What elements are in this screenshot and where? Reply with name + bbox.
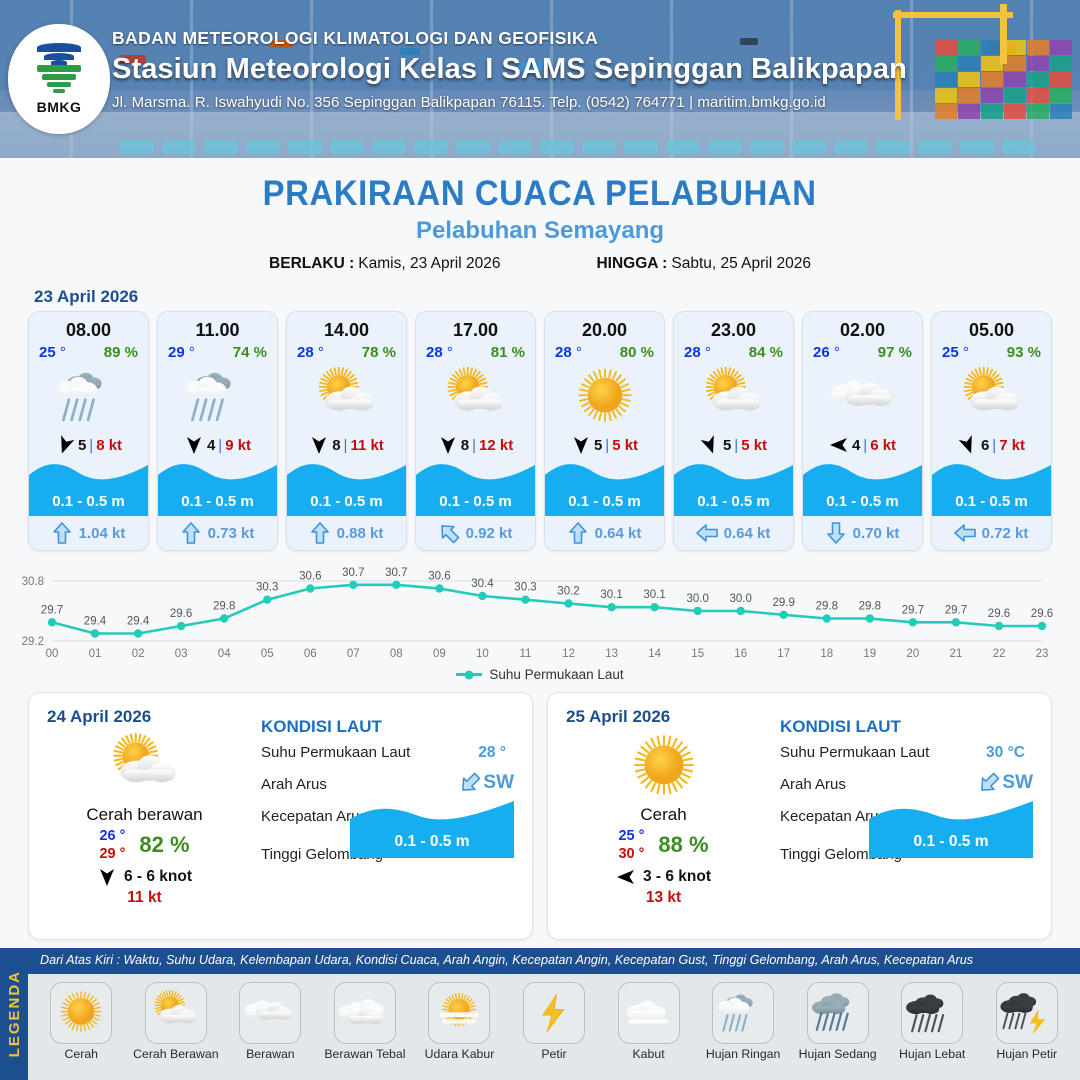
logo-text: BMKG	[37, 99, 82, 115]
legend-item-label: Berawan Tebal	[318, 1047, 413, 1061]
svg-text:29.9: 29.9	[773, 597, 795, 609]
wind-direction-arrow-icon	[700, 435, 720, 455]
header-waiting-chair	[918, 140, 952, 154]
card-wave-block: 0.1 - 0.5 m 0.88 kt	[287, 461, 406, 550]
arrow-southwest-icon	[979, 772, 999, 794]
daily-panel: 24 April 2026 Cerah berawan 26 ° 29 ° 82…	[28, 692, 533, 940]
card-time: 05.00	[932, 320, 1051, 341]
card-temperature: 28 °	[297, 344, 324, 361]
card-wind-separator: |	[863, 437, 867, 454]
chart-legend-label: Suhu Permukaan Laut	[489, 667, 623, 682]
card-wind-row: 8 | 11 kt	[287, 435, 406, 455]
legend-body: Dari Atas Kiri : Waktu, Suhu Udara, Kele…	[28, 948, 1080, 1080]
wind-direction-arrow-icon	[958, 435, 978, 455]
card-wave-height: 0.1 - 0.5 m	[803, 486, 922, 516]
card-time: 23.00	[674, 320, 793, 341]
svg-text:03: 03	[175, 648, 188, 660]
card-current-speed: 0.70 kt	[853, 525, 900, 542]
sunny-icon	[545, 363, 664, 431]
legend-note: Dari Atas Kiri : Waktu, Suhu Udara, Kele…	[28, 948, 1080, 974]
daily-temp-max: 30 °	[618, 846, 644, 862]
card-wind-speed: 9 kt	[225, 437, 251, 454]
legend-item: Hujan Petir	[979, 982, 1074, 1061]
station-name: Stasiun Meteorologi Kelas I SAMS Sepingg…	[112, 53, 1052, 86]
berlaku-label: BERLAKU :	[269, 255, 354, 272]
berlaku-group: BERLAKU :Kamis, 23 April 2026	[269, 255, 500, 273]
card-wave-height: 0.1 - 0.5 m	[29, 486, 148, 516]
svg-text:08: 08	[390, 648, 403, 660]
sea-temperature-chart: 30.8 29.2 29.729.429.429.629.830.330.630…	[0, 563, 1080, 663]
sst-value: 28 °	[478, 744, 506, 762]
wind-direction-arrow-icon	[309, 435, 329, 455]
daily-sea-conditions: KONDISI LAUT Suhu Permukaan Laut 30 °C A…	[780, 717, 1039, 866]
card-wind-row: 5 | 8 kt	[29, 435, 148, 455]
card-temp-hum-row: 28 ° 84 %	[674, 341, 793, 361]
daily-wind-range: 6 - 6 knot	[124, 868, 192, 886]
svg-text:30.0: 30.0	[730, 593, 752, 605]
card-temperature: 28 °	[555, 344, 582, 361]
card-humidity: 81 %	[491, 344, 525, 361]
arrow-up-icon	[568, 522, 588, 544]
card-temperature: 26 °	[813, 344, 840, 361]
daily-temp-min: 25 °	[618, 828, 644, 844]
card-humidity: 93 %	[1007, 344, 1041, 361]
svg-text:29.8: 29.8	[816, 601, 838, 613]
partly-cloudy-icon	[37, 731, 252, 803]
legend-item-label: Cerah Berawan	[129, 1047, 224, 1061]
daily-summary: Cerah berawan 26 ° 29 ° 82 % 6 - 6 knot …	[37, 731, 252, 907]
arrow-upleft-icon	[439, 522, 459, 544]
card-wind-separator: |	[605, 437, 609, 454]
card-current-row: 0.64 kt	[674, 516, 793, 550]
card-wind-direction: 4	[852, 437, 860, 454]
daily-humidity: 82 %	[139, 832, 189, 858]
card-wave-height: 0.1 - 0.5 m	[416, 486, 535, 516]
svg-text:29.8: 29.8	[859, 601, 881, 613]
sst-label: Suhu Permukaan Laut	[261, 744, 410, 761]
card-wind-speed: 12 kt	[479, 437, 513, 454]
card-wave-block: 0.1 - 0.5 m 0.73 kt	[158, 461, 277, 550]
overcast-icon	[334, 982, 396, 1044]
arrow-up-icon	[52, 522, 72, 544]
legend-item: Cerah	[34, 982, 129, 1061]
hourly-date-label: 23 April 2026	[34, 287, 1080, 307]
svg-text:16: 16	[734, 648, 747, 660]
daily-temp-group: 26 ° 29 ° 82 %	[37, 828, 252, 862]
card-wind-row: 6 | 7 kt	[932, 435, 1051, 455]
wind-direction-arrow-icon	[829, 435, 849, 455]
card-wind-row: 4 | 6 kt	[803, 435, 922, 455]
header-waiting-chair	[708, 140, 742, 154]
wind-direction-arrow-icon	[571, 435, 591, 455]
card-wind-row: 8 | 12 kt	[416, 435, 535, 455]
daily-gust: 11 kt	[37, 889, 252, 907]
legend-item: Berawan Tebal	[318, 982, 413, 1061]
card-temp-hum-row: 28 ° 80 %	[545, 341, 664, 361]
svg-text:21: 21	[950, 648, 963, 660]
card-current-speed: 0.64 kt	[724, 525, 771, 542]
hourly-card: 14.00 28 ° 78 % 8 | 11 kt 0.1 - 0.5 m	[286, 311, 407, 551]
wind-direction-arrow-icon	[55, 435, 75, 455]
svg-text:29.2: 29.2	[22, 636, 44, 648]
card-current-row: 1.04 kt	[29, 516, 148, 550]
rain-light-icon	[158, 363, 277, 431]
card-time: 17.00	[416, 320, 535, 341]
card-wind-direction: 5	[78, 437, 86, 454]
daily-temp-col: 26 ° 29 °	[99, 828, 125, 862]
arrow-southwest-icon	[460, 772, 480, 794]
title-block: PRAKIRAAN CUACA PELABUHAN Pelabuhan Sema…	[0, 174, 1080, 273]
svg-text:13: 13	[605, 648, 618, 660]
card-humidity: 78 %	[362, 344, 396, 361]
page-title: PRAKIRAAN CUACA PELABUHAN	[263, 174, 817, 214]
card-wind-separator: |	[344, 437, 348, 454]
sunny-icon	[50, 982, 112, 1044]
svg-text:29.4: 29.4	[127, 616, 150, 628]
card-temperature: 25 °	[942, 344, 969, 361]
legend-item: Petir	[507, 982, 602, 1061]
svg-text:01: 01	[89, 648, 102, 660]
card-temperature: 25 °	[39, 344, 66, 361]
svg-text:23: 23	[1036, 648, 1049, 660]
card-temperature: 28 °	[684, 344, 711, 361]
card-temp-hum-row: 29 ° 74 %	[158, 341, 277, 361]
daily-temp-col: 25 ° 30 °	[618, 828, 644, 862]
sea-conditions-title: KONDISI LAUT	[261, 717, 520, 737]
svg-text:10: 10	[476, 648, 489, 660]
card-time: 11.00	[158, 320, 277, 341]
current-direction-label: Arah Arus	[780, 776, 846, 793]
card-current-row: 0.92 kt	[416, 516, 535, 550]
card-humidity: 89 %	[104, 344, 138, 361]
card-temp-hum-row: 25 ° 93 %	[932, 341, 1051, 361]
header-waiting-chair	[498, 140, 532, 154]
rain-light-icon	[712, 982, 774, 1044]
card-current-speed: 0.72 kt	[982, 525, 1029, 542]
hourly-forecast-cards: 08.00 25 ° 89 % 5 | 8 kt 0.1 - 0.5 m	[0, 311, 1080, 551]
svg-text:30.3: 30.3	[256, 582, 278, 594]
wind-direction-arrow-icon	[184, 435, 204, 455]
header-waiting-chair	[834, 140, 868, 154]
legend-item-label: Kabut	[601, 1047, 696, 1061]
svg-text:20: 20	[907, 648, 920, 660]
legend-section: LEGENDA Dari Atas Kiri : Waktu, Suhu Uda…	[0, 948, 1080, 1080]
header-waiting-chair	[666, 140, 700, 154]
legend-item: Udara Kabur	[412, 982, 507, 1061]
card-wind-direction: 5	[594, 437, 602, 454]
card-wind-direction: 6	[981, 437, 989, 454]
card-current-row: 0.73 kt	[158, 516, 277, 550]
card-temperature: 29 °	[168, 344, 195, 361]
header-waiting-chair	[204, 140, 238, 154]
card-wave-block: 0.1 - 0.5 m 0.70 kt	[803, 461, 922, 550]
svg-text:29.4: 29.4	[84, 616, 107, 628]
daily-humidity: 88 %	[658, 832, 708, 858]
card-wind-direction: 8	[461, 437, 469, 454]
card-current-speed: 0.92 kt	[466, 525, 513, 542]
svg-text:29.7: 29.7	[41, 604, 63, 616]
card-time: 14.00	[287, 320, 406, 341]
header-crane	[893, 12, 1013, 18]
card-humidity: 97 %	[878, 344, 912, 361]
card-current-row: 0.72 kt	[932, 516, 1051, 550]
svg-text:12: 12	[562, 648, 575, 660]
card-time: 02.00	[803, 320, 922, 341]
svg-text:30.1: 30.1	[600, 589, 622, 601]
legend-item: Berawan	[223, 982, 318, 1061]
legend-item: Hujan Lebat	[885, 982, 980, 1061]
card-wind-separator: |	[218, 437, 222, 454]
current-direction-value: SW	[1002, 772, 1033, 794]
card-wind-direction: 5	[723, 437, 731, 454]
thunderstorm-icon	[996, 982, 1058, 1044]
header-waiting-chair	[288, 140, 322, 154]
card-wind-separator: |	[992, 437, 996, 454]
svg-text:30.6: 30.6	[428, 571, 450, 583]
svg-text:29.8: 29.8	[213, 601, 235, 613]
svg-text:30.3: 30.3	[514, 582, 536, 594]
hingga-label: HINGGA :	[596, 255, 667, 272]
sea-conditions-title: KONDISI LAUT	[780, 717, 1039, 737]
partly-cloudy-icon	[674, 363, 793, 431]
legend-item-label: Berawan	[223, 1047, 318, 1061]
daily-wind-row: 3 - 6 knot	[556, 867, 771, 887]
card-wind-speed: 7 kt	[999, 437, 1025, 454]
header-waiting-chair	[456, 140, 490, 154]
svg-text:14: 14	[648, 648, 661, 660]
legend-side-label: LEGENDA	[6, 970, 23, 1057]
svg-text:29.6: 29.6	[988, 608, 1010, 620]
header-waiting-chair	[372, 140, 406, 154]
rain-moderate-icon	[807, 982, 869, 1044]
daily-wave-block: 0.1 - 0.5 m	[869, 801, 1033, 858]
wind-direction-arrow-icon	[97, 867, 117, 887]
legend-item: Cerah Berawan	[129, 982, 224, 1061]
svg-text:29.7: 29.7	[902, 604, 924, 616]
card-wave-block: 0.1 - 0.5 m 0.72 kt	[932, 461, 1051, 550]
wind-direction-arrow-icon	[616, 867, 636, 887]
card-current-speed: 0.64 kt	[595, 525, 642, 542]
legend-item: Kabut	[601, 982, 696, 1061]
hourly-card: 08.00 25 ° 89 % 5 | 8 kt 0.1 - 0.5 m	[28, 311, 149, 551]
legend-item: Hujan Ringan	[696, 982, 791, 1061]
daily-temp-max: 29 °	[99, 846, 125, 862]
bmkg-logo: BMKG	[8, 24, 110, 134]
daily-wave-height: 0.1 - 0.5 m	[350, 826, 514, 858]
sunny-icon	[556, 731, 771, 803]
berlaku-value: Kamis, 23 April 2026	[358, 255, 500, 272]
card-current-speed: 1.04 kt	[79, 525, 126, 542]
legend-item-label: Hujan Ringan	[696, 1047, 791, 1061]
hourly-card: 05.00 25 ° 93 % 6 | 7 kt 0.1 - 0.5 m	[931, 311, 1052, 551]
svg-text:29.7: 29.7	[945, 604, 967, 616]
header-waiting-chair	[750, 140, 784, 154]
arrow-left-icon	[955, 522, 975, 544]
card-wind-row: 4 | 9 kt	[158, 435, 277, 455]
svg-text:05: 05	[261, 648, 274, 660]
logo-wave-icon	[36, 65, 82, 95]
hingga-group: HINGGA :Sabtu, 25 April 2026	[596, 255, 811, 273]
header-waiting-chair	[162, 140, 196, 154]
page-header: BMKG BADAN METEOROLOGI KLIMATOLOGI DAN G…	[0, 0, 1080, 158]
card-temp-hum-row: 28 ° 78 %	[287, 341, 406, 361]
station-address: Jl. Marsma. R. Iswahyudi No. 356 Sepingg…	[112, 94, 1052, 111]
card-temp-hum-row: 26 ° 97 %	[803, 341, 922, 361]
card-wave-height: 0.1 - 0.5 m	[545, 486, 664, 516]
header-text-block: BADAN METEOROLOGI KLIMATOLOGI DAN GEOFIS…	[112, 28, 1052, 111]
daily-gust: 13 kt	[556, 889, 771, 907]
legend-icon-row: Cerah Cerah Berawan Berawan	[28, 974, 1080, 1061]
card-current-speed: 0.88 kt	[337, 525, 384, 542]
card-wave-height: 0.1 - 0.5 m	[287, 486, 406, 516]
svg-text:02: 02	[132, 648, 145, 660]
card-temperature: 28 °	[426, 344, 453, 361]
header-container	[1050, 104, 1072, 119]
card-wave-height: 0.1 - 0.5 m	[674, 486, 793, 516]
daily-wind-row: 6 - 6 knot	[37, 867, 252, 887]
sst-label: Suhu Permukaan Laut	[780, 744, 929, 761]
cloudy-icon	[803, 363, 922, 431]
svg-text:00: 00	[46, 648, 59, 660]
arrow-up-icon	[310, 522, 330, 544]
svg-text:19: 19	[863, 648, 876, 660]
current-direction-group: SW	[460, 772, 514, 794]
fog-icon	[618, 982, 680, 1044]
svg-text:30.7: 30.7	[342, 567, 364, 579]
card-time: 20.00	[545, 320, 664, 341]
validity-row: BERLAKU :Kamis, 23 April 2026 HINGGA :Sa…	[0, 255, 1080, 273]
legend-item-label: Cerah	[34, 1047, 129, 1061]
svg-text:30.6: 30.6	[299, 571, 321, 583]
header-container	[1050, 72, 1072, 87]
legend-item-label: Hujan Petir	[979, 1047, 1074, 1061]
partly-cloudy-icon	[287, 363, 406, 431]
card-wave-block: 0.1 - 0.5 m 0.92 kt	[416, 461, 535, 550]
card-wind-direction: 8	[332, 437, 340, 454]
page-subtitle: Pelabuhan Semayang	[0, 217, 1080, 245]
hourly-card: 20.00 28 ° 80 % 5 | 5 kt 0.1 - 0.5 m 0.6…	[544, 311, 665, 551]
card-wind-speed: 6 kt	[870, 437, 896, 454]
svg-text:29.6: 29.6	[1031, 608, 1053, 620]
legend-line-marker-icon	[456, 673, 482, 676]
card-wind-separator: |	[472, 437, 476, 454]
current-direction-group: SW	[979, 772, 1033, 794]
header-waiting-chair	[792, 140, 826, 154]
card-wind-speed: 8 kt	[96, 437, 122, 454]
daily-wave-height: 0.1 - 0.5 m	[869, 826, 1033, 858]
header-waiting-chair	[876, 140, 910, 154]
partly-cloudy-icon	[145, 982, 207, 1044]
header-waiting-chair	[120, 140, 154, 154]
card-current-row: 0.88 kt	[287, 516, 406, 550]
svg-text:30.2: 30.2	[557, 586, 579, 598]
sst-value: 30 °C	[986, 744, 1025, 762]
header-container	[1050, 88, 1072, 103]
card-wind-row: 5 | 5 kt	[545, 435, 664, 455]
card-wind-speed: 5 kt	[612, 437, 638, 454]
card-wave-height: 0.1 - 0.5 m	[932, 486, 1051, 516]
svg-text:30.1: 30.1	[643, 589, 665, 601]
card-wave-block: 0.1 - 0.5 m 0.64 kt	[545, 461, 664, 550]
haze-icon	[428, 982, 490, 1044]
daily-temp-group: 25 ° 30 ° 88 %	[556, 828, 771, 862]
svg-text:11: 11	[520, 648, 532, 660]
cloudy-icon	[239, 982, 301, 1044]
header-container	[1050, 56, 1072, 71]
daily-panel: 25 April 2026 Cerah 25 ° 30 ° 88 % 3 - 6…	[547, 692, 1052, 940]
current-direction-label: Arah Arus	[261, 776, 327, 793]
daily-date: 25 April 2026	[566, 707, 670, 727]
card-temp-hum-row: 28 ° 81 %	[416, 341, 535, 361]
card-wind-speed: 11 kt	[350, 437, 383, 454]
current-direction-value: SW	[483, 772, 514, 794]
card-wave-height: 0.1 - 0.5 m	[158, 486, 277, 516]
card-temp-hum-row: 25 ° 89 %	[29, 341, 148, 361]
hourly-card: 02.00 26 ° 97 % 4 | 6 kt 0.1 - 0.5 m	[802, 311, 923, 551]
hingga-value: Sabtu, 25 April 2026	[671, 255, 811, 272]
logo-arc-icon	[35, 43, 83, 63]
card-wave-block: 0.1 - 0.5 m 0.64 kt	[674, 461, 793, 550]
arrow-up-icon	[181, 522, 201, 544]
daily-temp-min: 26 °	[99, 828, 125, 844]
hourly-card: 23.00 28 ° 84 % 5 | 5 kt 0.1 - 0.5 m	[673, 311, 794, 551]
card-humidity: 84 %	[749, 344, 783, 361]
header-waiting-chair	[582, 140, 616, 154]
daily-wind-range: 3 - 6 knot	[643, 868, 711, 886]
svg-text:30.4: 30.4	[471, 578, 494, 590]
card-wind-speed: 5 kt	[741, 437, 767, 454]
hourly-card: 11.00 29 ° 74 % 4 | 9 kt 0.1 - 0.5 m	[157, 311, 278, 551]
hourly-card: 17.00 28 ° 81 % 8 | 12 kt 0.1 - 0.5 m	[415, 311, 536, 551]
card-humidity: 80 %	[620, 344, 654, 361]
svg-text:09: 09	[433, 648, 446, 660]
daily-forecast-panels: 24 April 2026 Cerah berawan 26 ° 29 ° 82…	[0, 692, 1080, 940]
card-wind-separator: |	[89, 437, 93, 454]
partly-cloudy-icon	[932, 363, 1051, 431]
legend-item-label: Petir	[507, 1047, 602, 1061]
svg-text:18: 18	[820, 648, 833, 660]
header-waiting-chair	[1002, 140, 1036, 154]
card-wave-block: 0.1 - 0.5 m 1.04 kt	[29, 461, 148, 550]
legend-item-label: Hujan Sedang	[790, 1047, 885, 1061]
card-current-speed: 0.73 kt	[208, 525, 255, 542]
svg-text:04: 04	[218, 648, 231, 660]
legend-side-bar: LEGENDA	[0, 948, 28, 1080]
svg-text:30.7: 30.7	[385, 567, 407, 579]
daily-condition: Cerah	[556, 805, 771, 825]
svg-text:22: 22	[993, 648, 1006, 660]
daily-summary: Cerah 25 ° 30 ° 88 % 3 - 6 knot 13 kt	[556, 731, 771, 907]
card-wind-direction: 4	[207, 437, 215, 454]
partly-cloudy-icon	[416, 363, 535, 431]
legend-item-label: Udara Kabur	[412, 1047, 507, 1061]
svg-text:07: 07	[347, 648, 360, 660]
lightning-icon	[523, 982, 585, 1044]
chart-legend: Suhu Permukaan Laut	[0, 667, 1080, 682]
svg-text:30.0: 30.0	[687, 593, 709, 605]
card-time: 08.00	[29, 320, 148, 341]
header-waiting-chair	[540, 140, 574, 154]
legend-item-label: Hujan Lebat	[885, 1047, 980, 1061]
card-current-row: 0.64 kt	[545, 516, 664, 550]
card-current-row: 0.70 kt	[803, 516, 922, 550]
daily-condition: Cerah berawan	[37, 805, 252, 825]
arrow-left-icon	[697, 522, 717, 544]
daily-wave-block: 0.1 - 0.5 m	[350, 801, 514, 858]
card-wind-row: 5 | 5 kt	[674, 435, 793, 455]
wind-direction-arrow-icon	[438, 435, 458, 455]
card-humidity: 74 %	[233, 344, 267, 361]
